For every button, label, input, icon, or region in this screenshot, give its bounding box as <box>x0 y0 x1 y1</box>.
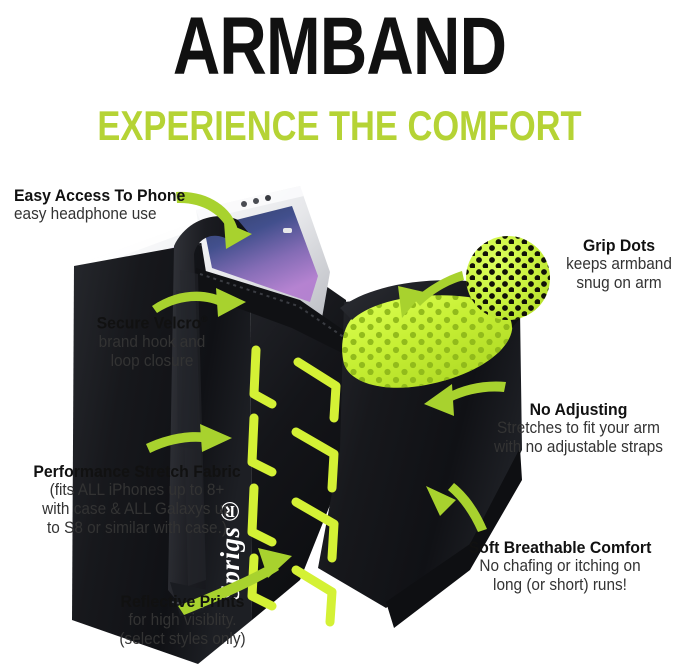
callout-line: for high visiblity. <box>78 611 287 630</box>
callout-easy-access: Easy Access To Phone easy headphone use <box>14 186 198 224</box>
callout-grip-dots: Grip Dots keeps armband snug on arm <box>558 236 679 293</box>
callout-title: Reflective Prints <box>78 592 287 611</box>
callout-line: (fits ALL iPhones up to 8+ <box>11 481 262 500</box>
callout-line: No chafing or itching on <box>449 557 670 576</box>
callout-line: long (or short) runs! <box>449 576 670 595</box>
callout-reflective-prints: Reflective Prints for high visiblity. (s… <box>70 592 295 649</box>
callout-line: keeps armband <box>562 255 675 274</box>
callout-line: with no adjustable straps <box>485 438 672 457</box>
callout-title: No Adjusting <box>485 400 672 419</box>
callout-title: Soft Breathable Comfort <box>449 538 670 557</box>
callout-line: brand hook and <box>68 333 235 352</box>
arrow-grip-dots <box>398 271 464 318</box>
callout-title: Grip Dots <box>562 236 675 255</box>
arrow-soft-comfort <box>426 483 487 532</box>
callout-title: Easy Access To Phone <box>14 186 185 205</box>
callout-title: Secure Velcro® <box>68 310 235 333</box>
callout-line: Stretches to fit your arm <box>485 419 672 438</box>
callout-line: to S8 or similar with case.) <box>11 519 262 538</box>
callout-secure-velcro: Secure Velcro® brand hook and loop closu… <box>62 310 242 371</box>
callout-line: loop closure <box>68 352 235 371</box>
callout-performance-fabric: Performance Stretch Fabric (fits ALL iPh… <box>2 462 272 538</box>
callout-line: easy headphone use <box>14 205 185 224</box>
callout-line: snug on arm <box>562 274 675 293</box>
infographic-canvas: ARMBAND EXPERIENCE THE COMFORT <box>0 0 679 664</box>
callout-title-text: Secure Velcro <box>97 314 202 333</box>
arrow-performance-fabric <box>146 424 232 453</box>
callout-line: with case & ALL Galaxys up <box>11 500 262 519</box>
callout-no-adjusting: No Adjusting Stretches to fit your arm w… <box>478 400 679 457</box>
callout-soft-comfort: Soft Breathable Comfort No chafing or it… <box>441 538 679 595</box>
registered-mark: ® <box>201 314 207 324</box>
callout-line: (select styles only) <box>78 630 287 649</box>
callout-title: Performance Stretch Fabric <box>11 462 262 481</box>
